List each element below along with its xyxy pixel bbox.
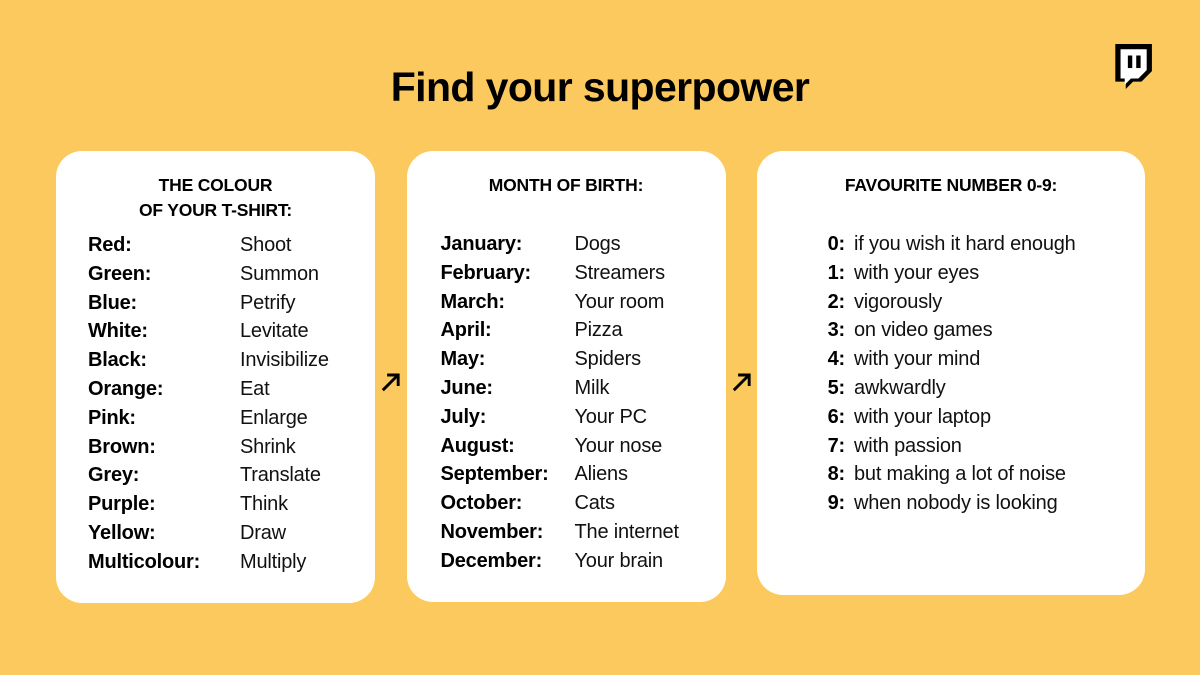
card-number-rows: 0:if you wish it hard enough 1:with your… — [775, 230, 1127, 518]
row-value: Invisibilize — [240, 346, 329, 375]
row-value: with your laptop — [854, 403, 991, 432]
row-key: May: — [441, 345, 575, 374]
row-key: Brown: — [88, 433, 240, 462]
list-item: 7:with passion — [815, 432, 1127, 461]
list-item: 5:awkwardly — [815, 374, 1127, 403]
row-value: Dogs — [575, 230, 621, 259]
list-item: Multicolour:Multiply — [88, 548, 357, 577]
row-key: Pink: — [88, 404, 240, 433]
row-key: April: — [441, 316, 575, 345]
row-value: Summon — [240, 260, 319, 289]
row-key: 8: — [815, 460, 845, 489]
row-value: if you wish it hard enough — [854, 230, 1076, 259]
row-key: January: — [441, 230, 575, 259]
row-key: Yellow: — [88, 519, 240, 548]
row-key: 4: — [815, 345, 845, 374]
card-number: FAVOURITE NUMBER 0-9: 0:if you wish it h… — [757, 151, 1145, 595]
list-item: March:Your room — [441, 288, 708, 317]
list-item: April:Pizza — [441, 316, 708, 345]
row-value: Aliens — [575, 460, 628, 489]
row-key: 3: — [815, 316, 845, 345]
row-key: 1: — [815, 259, 845, 288]
poster-canvas: Find your superpower THE COLOUR OF YOUR … — [0, 0, 1200, 675]
list-item: White:Levitate — [88, 317, 357, 346]
row-key: 5: — [815, 374, 845, 403]
list-item: September:Aliens — [441, 460, 708, 489]
row-key: December: — [441, 547, 575, 576]
list-item: Grey:Translate — [88, 461, 357, 490]
row-value: Cats — [575, 489, 615, 518]
card-colour: THE COLOUR OF YOUR T-SHIRT: Red:Shoot Gr… — [56, 151, 375, 603]
row-value: Translate — [240, 461, 321, 490]
row-key: Purple: — [88, 490, 240, 519]
list-item: 9:when nobody is looking — [815, 489, 1127, 518]
row-value: on video games — [854, 316, 992, 345]
row-key: August: — [441, 432, 575, 461]
list-item: Blue:Petrify — [88, 289, 357, 318]
card-month-rows: January:Dogs February:Streamers March:Yo… — [425, 230, 708, 576]
row-value: vigorously — [854, 288, 942, 317]
card-number-header: FAVOURITE NUMBER 0-9: — [775, 173, 1127, 198]
card-rail: THE COLOUR OF YOUR T-SHIRT: Red:Shoot Gr… — [56, 151, 1145, 601]
row-key: 6: — [815, 403, 845, 432]
list-item: December:Your brain — [441, 547, 708, 576]
row-value: with your eyes — [854, 259, 979, 288]
row-key: March: — [441, 288, 575, 317]
list-item: Pink:Enlarge — [88, 404, 357, 433]
row-value: Draw — [240, 519, 286, 548]
list-item: May:Spiders — [441, 345, 708, 374]
list-item: July:Your PC — [441, 403, 708, 432]
row-value: Shrink — [240, 433, 296, 462]
row-value: with your mind — [854, 345, 980, 374]
row-value: Spiders — [575, 345, 641, 374]
row-key: September: — [441, 460, 575, 489]
card-colour-header: THE COLOUR OF YOUR T-SHIRT: — [74, 173, 357, 223]
row-value: Your brain — [575, 547, 663, 576]
list-item: November:The internet — [441, 518, 708, 547]
row-value: Streamers — [575, 259, 665, 288]
row-key: July: — [441, 403, 575, 432]
row-key: February: — [441, 259, 575, 288]
card-month-header: MONTH OF BIRTH: — [425, 173, 708, 198]
arrow-up-right-icon — [728, 370, 754, 395]
row-value: Your PC — [575, 403, 647, 432]
row-key: 2: — [815, 288, 845, 317]
row-key: 0: — [815, 230, 845, 259]
row-key: November: — [441, 518, 575, 547]
list-item: Brown:Shrink — [88, 433, 357, 462]
list-item: Green:Summon — [88, 260, 357, 289]
row-value: Levitate — [240, 317, 308, 346]
list-item: October:Cats — [441, 489, 708, 518]
list-item: Black:Invisibilize — [88, 346, 357, 375]
list-item: August:Your nose — [441, 432, 708, 461]
list-item: February:Streamers — [441, 259, 708, 288]
row-key: 9: — [815, 489, 845, 518]
row-value: Multiply — [240, 548, 306, 577]
list-item: January:Dogs — [441, 230, 708, 259]
row-key: Multicolour: — [88, 548, 240, 577]
row-key: Blue: — [88, 289, 240, 318]
arrow-up-right-icon — [378, 370, 404, 395]
row-value: Think — [240, 490, 288, 519]
row-key: Grey: — [88, 461, 240, 490]
page-title: Find your superpower — [0, 62, 1200, 112]
row-value: Pizza — [575, 316, 623, 345]
list-item: June:Milk — [441, 374, 708, 403]
row-value: Enlarge — [240, 404, 308, 433]
list-item: 8:but making a lot of noise — [815, 460, 1127, 489]
row-value: Shoot — [240, 231, 291, 260]
row-value: Your room — [575, 288, 665, 317]
card-month: MONTH OF BIRTH: January:Dogs February:St… — [407, 151, 726, 602]
row-value: Your nose — [575, 432, 663, 461]
list-item: Orange:Eat — [88, 375, 357, 404]
row-value: but making a lot of noise — [854, 460, 1066, 489]
row-key: June: — [441, 374, 575, 403]
row-value: awkwardly — [854, 374, 946, 403]
list-item: 0:if you wish it hard enough — [815, 230, 1127, 259]
list-item: Yellow:Draw — [88, 519, 357, 548]
row-value: Petrify — [240, 289, 295, 318]
row-key: Red: — [88, 231, 240, 260]
row-key: White: — [88, 317, 240, 346]
row-key: Green: — [88, 260, 240, 289]
list-item: 1:with your eyes — [815, 259, 1127, 288]
row-key: 7: — [815, 432, 845, 461]
card-colour-rows: Red:Shoot Green:Summon Blue:Petrify Whit… — [74, 231, 357, 577]
list-item: Red:Shoot — [88, 231, 357, 260]
list-item: 4:with your mind — [815, 345, 1127, 374]
row-key: Black: — [88, 346, 240, 375]
row-value: when nobody is looking — [854, 489, 1058, 518]
row-value: Eat — [240, 375, 269, 404]
list-item: 2:vigorously — [815, 288, 1127, 317]
row-value: Milk — [575, 374, 610, 403]
row-key: Orange: — [88, 375, 240, 404]
row-key: October: — [441, 489, 575, 518]
row-value: with passion — [854, 432, 962, 461]
list-item: Purple:Think — [88, 490, 357, 519]
row-value: The internet — [575, 518, 679, 547]
list-item: 3:on video games — [815, 316, 1127, 345]
list-item: 6:with your laptop — [815, 403, 1127, 432]
